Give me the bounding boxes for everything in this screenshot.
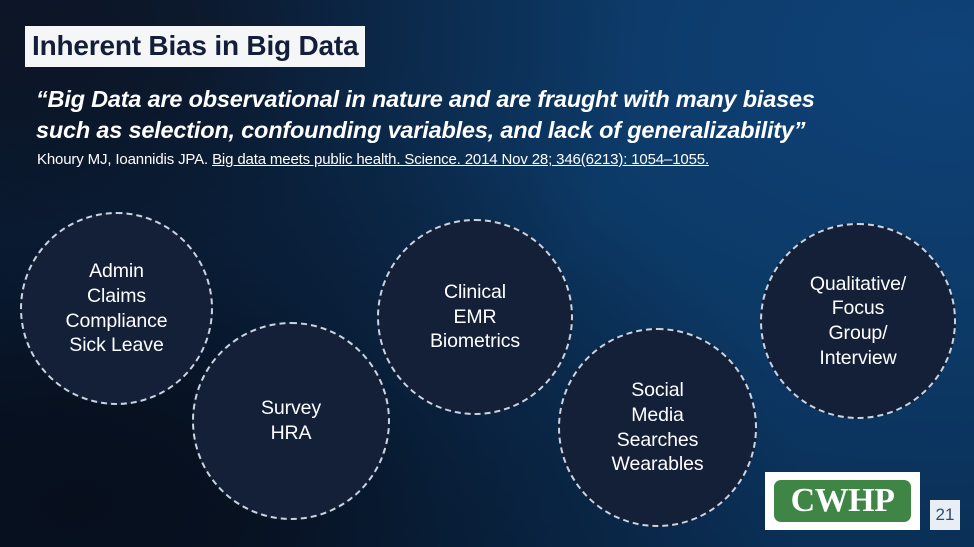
citation-authors: Khoury MJ, Ioannidis JPA. [37,151,212,168]
cwhp-logo-badge: CWHP [774,480,911,522]
quote-line-2: such as selection, confounding variables… [36,115,936,146]
circle-clinical-text: Clinical EMR Biometrics [420,280,530,354]
circle-social-line-3: Searches [612,428,704,453]
circle-qualitative-line-3: Group/ [810,321,906,346]
circle-survey-line-2: HRA [261,421,321,446]
circle-clinical-line-3: Biometrics [430,329,520,354]
quote-block: “Big Data are observational in nature an… [36,84,936,147]
circle-admin-line-4: Sick Leave [66,333,168,358]
cwhp-logo-text: CWHP [791,484,895,518]
page-number: 21 [930,500,960,530]
cwhp-logo: CWHP [765,472,920,530]
circle-admin-text: Admin Claims Compliance Sick Leave [56,259,178,358]
circle-qualitative-line-2: Focus [810,296,906,321]
circle-qualitative-text: Qualitative/ Focus Group/ Interview [800,272,916,371]
citation: Khoury MJ, Ioannidis JPA. Big data meets… [37,151,709,169]
circle-survey-text: Survey HRA [251,396,331,446]
circle-social-text: Social Media Searches Wearables [602,378,714,477]
circle-survey-line-1: Survey [261,396,321,421]
circle-social-line-1: Social [612,378,704,403]
citation-source: Big data meets public health. Science. 2… [212,151,709,168]
page-title-wrapper: Inherent Bias in Big Data [25,26,365,67]
quote-line-1: “Big Data are observational in nature an… [36,84,936,115]
circle-clinical-line-1: Clinical [430,280,520,305]
circle-clinical-line-2: EMR [430,305,520,330]
circle-qualitative[interactable]: Qualitative/ Focus Group/ Interview [760,223,956,419]
circle-admin-line-2: Claims [66,284,168,309]
circle-social-line-4: Wearables [612,452,704,477]
circle-admin-line-1: Admin [66,259,168,284]
circle-social[interactable]: Social Media Searches Wearables [558,328,757,527]
circle-clinical[interactable]: Clinical EMR Biometrics [377,219,573,415]
circle-admin[interactable]: Admin Claims Compliance Sick Leave [20,212,213,405]
circle-admin-line-3: Compliance [66,309,168,334]
circle-survey[interactable]: Survey HRA [192,322,390,520]
slide-canvas: Inherent Bias in Big Data “Big Data are … [0,0,974,547]
circle-social-line-2: Media [612,403,704,428]
circle-qualitative-line-1: Qualitative/ [810,272,906,297]
page-title: Inherent Bias in Big Data [25,26,365,67]
circle-qualitative-line-4: Interview [810,346,906,371]
